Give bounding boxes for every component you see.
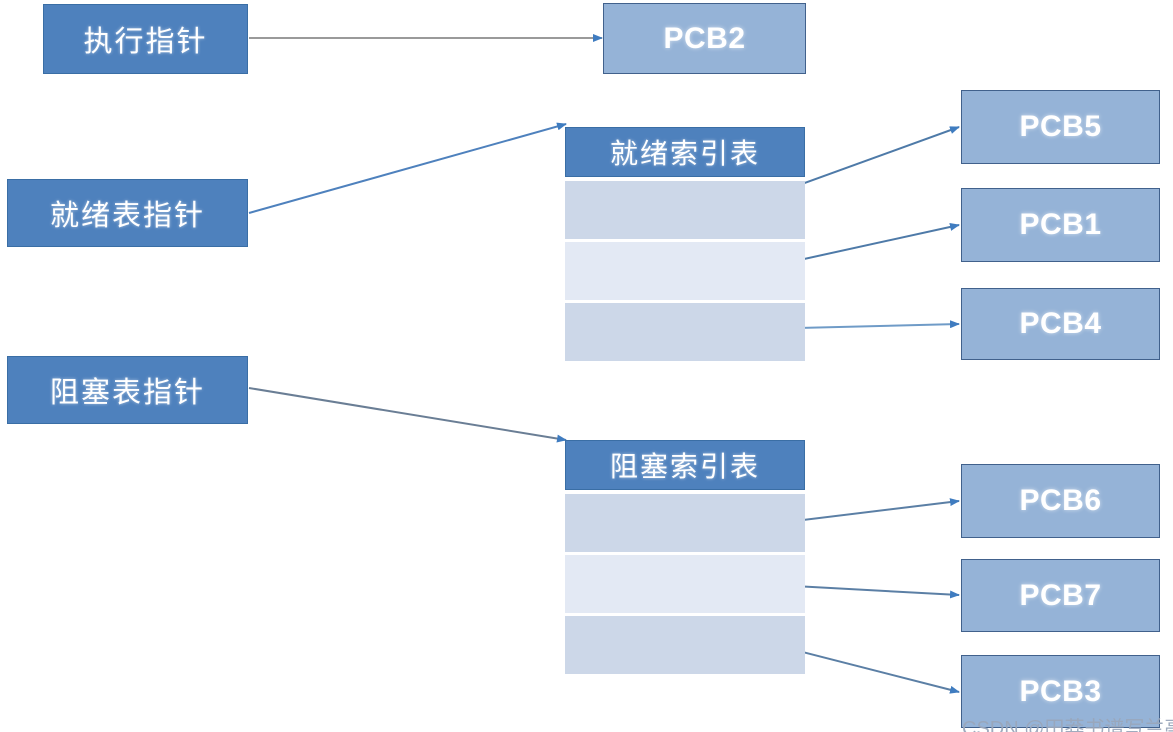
blocked-index-row-2[interactable] [565,555,805,613]
connector-ready-ptr-to-table [249,124,566,213]
pointer-box-blocked[interactable]: 阻塞表指针 [7,356,248,424]
pointer-box-ready-label: 就绪表指针 [50,192,205,234]
ready-index-row-3[interactable] [565,303,805,361]
pcb-box-pcb5[interactable]: PCB5 [961,90,1160,164]
ready-index-table[interactable]: 就绪索引表 [565,127,805,361]
blocked-index-row-1[interactable] [565,494,805,552]
blocked-index-table[interactable]: 阻塞索引表 [565,440,805,674]
pcb-box-pcb2-label: PCB2 [663,22,745,56]
pcb-box-pcb7-label: PCB7 [1019,579,1101,613]
pcb-box-pcb1-label: PCB1 [1019,208,1101,242]
blocked-index-table-header: 阻塞索引表 [565,440,805,490]
ready-index-row-1[interactable] [565,181,805,239]
pointer-box-exec-label: 执行指针 [83,18,207,60]
blocked-index-table-header-label: 阻塞索引表 [610,445,760,485]
pointer-box-blocked-label: 阻塞表指针 [50,369,205,411]
pcb-box-pcb2[interactable]: PCB2 [603,3,806,74]
pcb-box-pcb5-label: PCB5 [1019,110,1101,144]
pcb-box-pcb6-label: PCB6 [1019,484,1101,518]
ready-index-table-header-label: 就绪索引表 [610,132,760,172]
pcb-box-pcb4[interactable]: PCB4 [961,288,1160,360]
pcb-box-pcb6[interactable]: PCB6 [961,464,1160,538]
blocked-index-row-3[interactable] [565,616,805,674]
pointer-box-exec[interactable]: 执行指针 [43,4,248,74]
pcb-box-pcb1[interactable]: PCB1 [961,188,1160,262]
diagram-canvas: 执行指针 就绪表指针 阻塞表指针 就绪索引表 阻塞索引表 PCB2 PCB5 [0,0,1173,732]
pcb-box-pcb4-label: PCB4 [1019,307,1101,341]
watermark-text: CSDN @田莽书谱写兰亭 [962,712,1173,732]
ready-index-row-2[interactable] [565,242,805,300]
connector-blocked-ptr-to-table [249,388,566,440]
pointer-box-ready[interactable]: 就绪表指针 [7,179,248,247]
pcb-box-pcb3-label: PCB3 [1019,675,1101,709]
ready-index-table-header: 就绪索引表 [565,127,805,177]
pcb-box-pcb7[interactable]: PCB7 [961,559,1160,632]
